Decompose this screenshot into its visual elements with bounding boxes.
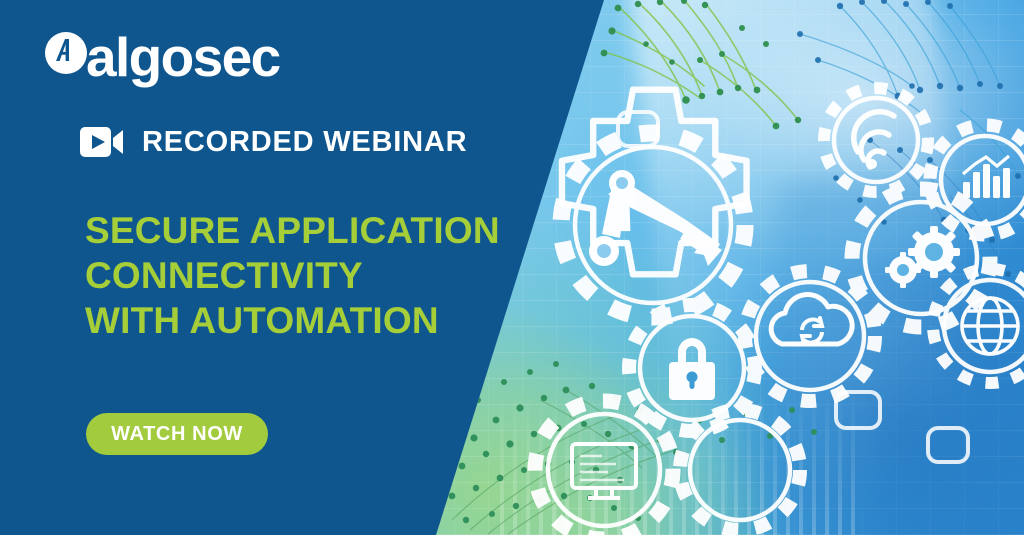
- wifi-icon: [854, 112, 894, 167]
- headline-line-3: WITH AUTOMATION: [85, 299, 500, 344]
- algosec-wordmark: algosec: [86, 30, 280, 85]
- watch-now-label: WATCH NOW: [111, 424, 243, 444]
- webinar-promo-banner: algosec RECORDED WEBINAR SECURE APPLICAT…: [0, 0, 1024, 535]
- algosec-logo-mark: [44, 31, 88, 75]
- watch-now-button[interactable]: WATCH NOW: [86, 413, 268, 455]
- page-title: SECURE APPLICATION CONNECTIVITY WITH AUT…: [85, 209, 500, 343]
- recorded-webinar-label: RECORDED WEBINAR: [142, 128, 467, 157]
- banner-content: algosec RECORDED WEBINAR SECURE APPLICAT…: [0, 0, 604, 535]
- cloud-sync-arrows: [802, 318, 822, 344]
- globe-icon: [962, 298, 1018, 354]
- headline-line-1: SECURE APPLICATION: [85, 209, 500, 254]
- video-camera-icon: [78, 126, 124, 158]
- lock-icon: [669, 338, 715, 400]
- algosec-logo[interactable]: algosec: [44, 27, 280, 87]
- robotic-arm-icon: [589, 170, 722, 266]
- headline-line-2: CONNECTIVITY: [85, 254, 500, 299]
- wifi-dot: [867, 159, 877, 169]
- recorded-webinar-badge: RECORDED WEBINAR: [78, 126, 467, 158]
